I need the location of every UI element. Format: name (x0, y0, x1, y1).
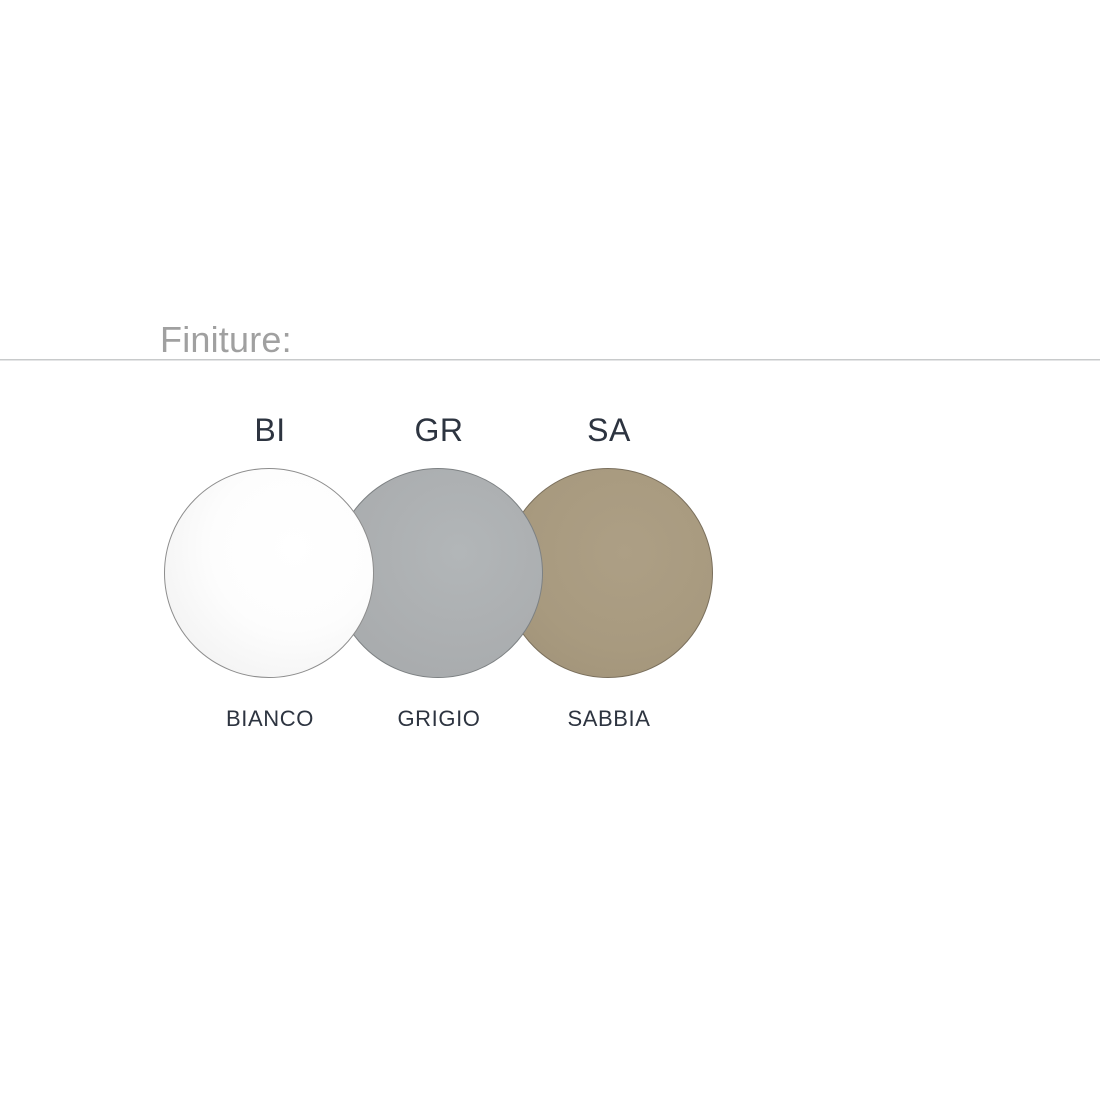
finish-swatch-bianco[interactable]: BI BIANCO (164, 400, 376, 740)
finish-swatch-row: BI BIANCO GR GRIGIO SA SABBIA (0, 400, 1100, 760)
finish-name-label: BIANCO (164, 705, 376, 733)
section-divider (0, 359, 1100, 361)
section-heading-finiture: Finiture: (160, 318, 292, 362)
finish-color-disc-icon[interactable] (164, 468, 374, 678)
finishes-panel: Finiture: BI BIANCO GR GRIGIO SA SABBIA (0, 0, 1100, 1100)
finish-code-label: BI (164, 410, 376, 450)
